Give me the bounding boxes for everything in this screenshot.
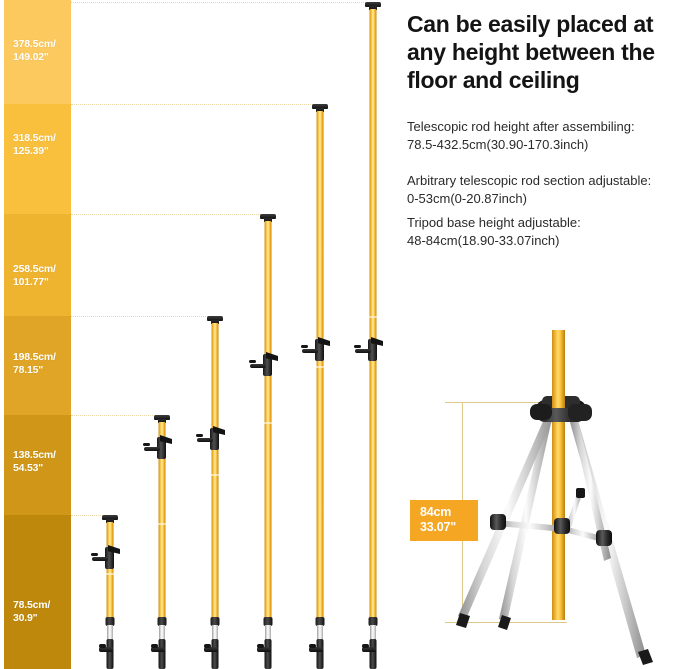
telescopic-pole-3 xyxy=(204,316,226,669)
pole-shaft-seam xyxy=(107,573,114,575)
scale-band-label: 258.5cm/ 101.77" xyxy=(13,263,56,288)
leader-line xyxy=(71,2,370,3)
spec-value: 48-84cm(18.90-33.07inch) xyxy=(407,232,679,250)
pole-clamp-tail xyxy=(196,434,203,437)
pole-shaft xyxy=(317,111,324,619)
pole-clamp-lever xyxy=(144,447,160,451)
infographic-canvas: 378.5cm/ 149.02" 318.5cm/ 125.39" 258.5c… xyxy=(0,0,679,669)
scale-band-label: 138.5cm/ 54.53" xyxy=(13,449,56,474)
telescopic-pole-4 xyxy=(257,214,279,669)
pole-foot-post xyxy=(317,639,324,669)
pole-foot-tip xyxy=(151,644,158,648)
pole-clamp-lever xyxy=(355,349,371,353)
scale-band-label: 318.5cm/ 125.39" xyxy=(13,132,56,157)
leader-line xyxy=(71,214,265,215)
leader-line xyxy=(71,415,159,416)
tripod-illustration: 84cm 33.07" xyxy=(400,330,679,669)
scale-band: 258.5cm/ 101.77" xyxy=(4,214,71,316)
pole-shaft-seam xyxy=(370,316,377,318)
leader-line xyxy=(71,104,317,105)
leader-line xyxy=(71,316,212,317)
pole-foot-post xyxy=(107,639,114,669)
pole-foot-tip xyxy=(204,644,211,648)
spec-value: 0-53cm(0-20.87inch) xyxy=(407,190,679,208)
pole-shaft-seam xyxy=(159,523,166,525)
pole-clamp-lever xyxy=(92,557,108,561)
pole-shaft xyxy=(370,9,377,619)
scale-band-label: 198.5cm/ 78.15" xyxy=(13,351,56,376)
spec-tripod-base-height: Tripod base height adjustable: 48-84cm(1… xyxy=(407,214,679,250)
pole-foot-post xyxy=(159,639,166,669)
scale-band-label: 378.5cm/ 149.02" xyxy=(13,38,56,63)
pole-clamp-tail xyxy=(301,345,308,348)
scale-band: 198.5cm/ 78.15" xyxy=(4,316,71,415)
pole-clamp-tail xyxy=(354,345,361,348)
telescopic-pole-6 xyxy=(362,2,384,669)
pole-foot-post xyxy=(265,639,272,669)
telescopic-pole-1 xyxy=(99,515,121,669)
spec-title: Arbitrary telescopic rod section adjusta… xyxy=(407,172,679,190)
pole-foot-post xyxy=(212,639,219,669)
page-title: Can be easily placed at any height betwe… xyxy=(407,10,675,94)
spec-telescopic-rod-height: Telescopic rod height after assembiling:… xyxy=(407,118,679,154)
pole-foot-tip xyxy=(99,644,106,648)
pole-foot-tip xyxy=(257,644,264,648)
telescopic-pole-5 xyxy=(309,104,331,669)
scale-band: 78.5cm/ 30.9" xyxy=(4,515,71,669)
pole-shaft-seam xyxy=(317,366,324,368)
pole-clamp-tail xyxy=(249,360,256,363)
pole-foot-tip xyxy=(362,644,369,648)
pole-shaft-seam xyxy=(265,422,272,424)
scale-band-label: 78.5cm/ 30.9" xyxy=(13,599,50,624)
pole-shaft-seam xyxy=(212,474,219,476)
pole-clamp-lever xyxy=(197,438,213,442)
pole-clamp-tail xyxy=(143,443,150,446)
spec-section-adjustable: Arbitrary telescopic rod section adjusta… xyxy=(407,172,679,208)
spec-title: Tripod base height adjustable: xyxy=(407,214,679,232)
height-scale-column: 378.5cm/ 149.02" 318.5cm/ 125.39" 258.5c… xyxy=(4,0,71,669)
spec-value: 78.5-432.5cm(30.90-170.3inch) xyxy=(407,136,679,154)
scale-band: 318.5cm/ 125.39" xyxy=(4,104,71,214)
pole-foot-tip xyxy=(309,644,316,648)
spec-title: Telescopic rod height after assembiling: xyxy=(407,118,679,136)
pole-clamp-lever xyxy=(250,364,266,368)
pole-shaft xyxy=(212,323,219,619)
tripod-svg xyxy=(400,330,679,669)
pole-foot-post xyxy=(370,639,377,669)
telescopic-pole-2 xyxy=(151,415,173,669)
pole-clamp-lever xyxy=(302,349,318,353)
scale-band: 378.5cm/ 149.02" xyxy=(4,0,71,104)
pole-clamp-tail xyxy=(91,553,98,556)
pole-shaft xyxy=(107,522,114,619)
pole-shaft xyxy=(265,221,272,619)
scale-band: 138.5cm/ 54.53" xyxy=(4,415,71,515)
